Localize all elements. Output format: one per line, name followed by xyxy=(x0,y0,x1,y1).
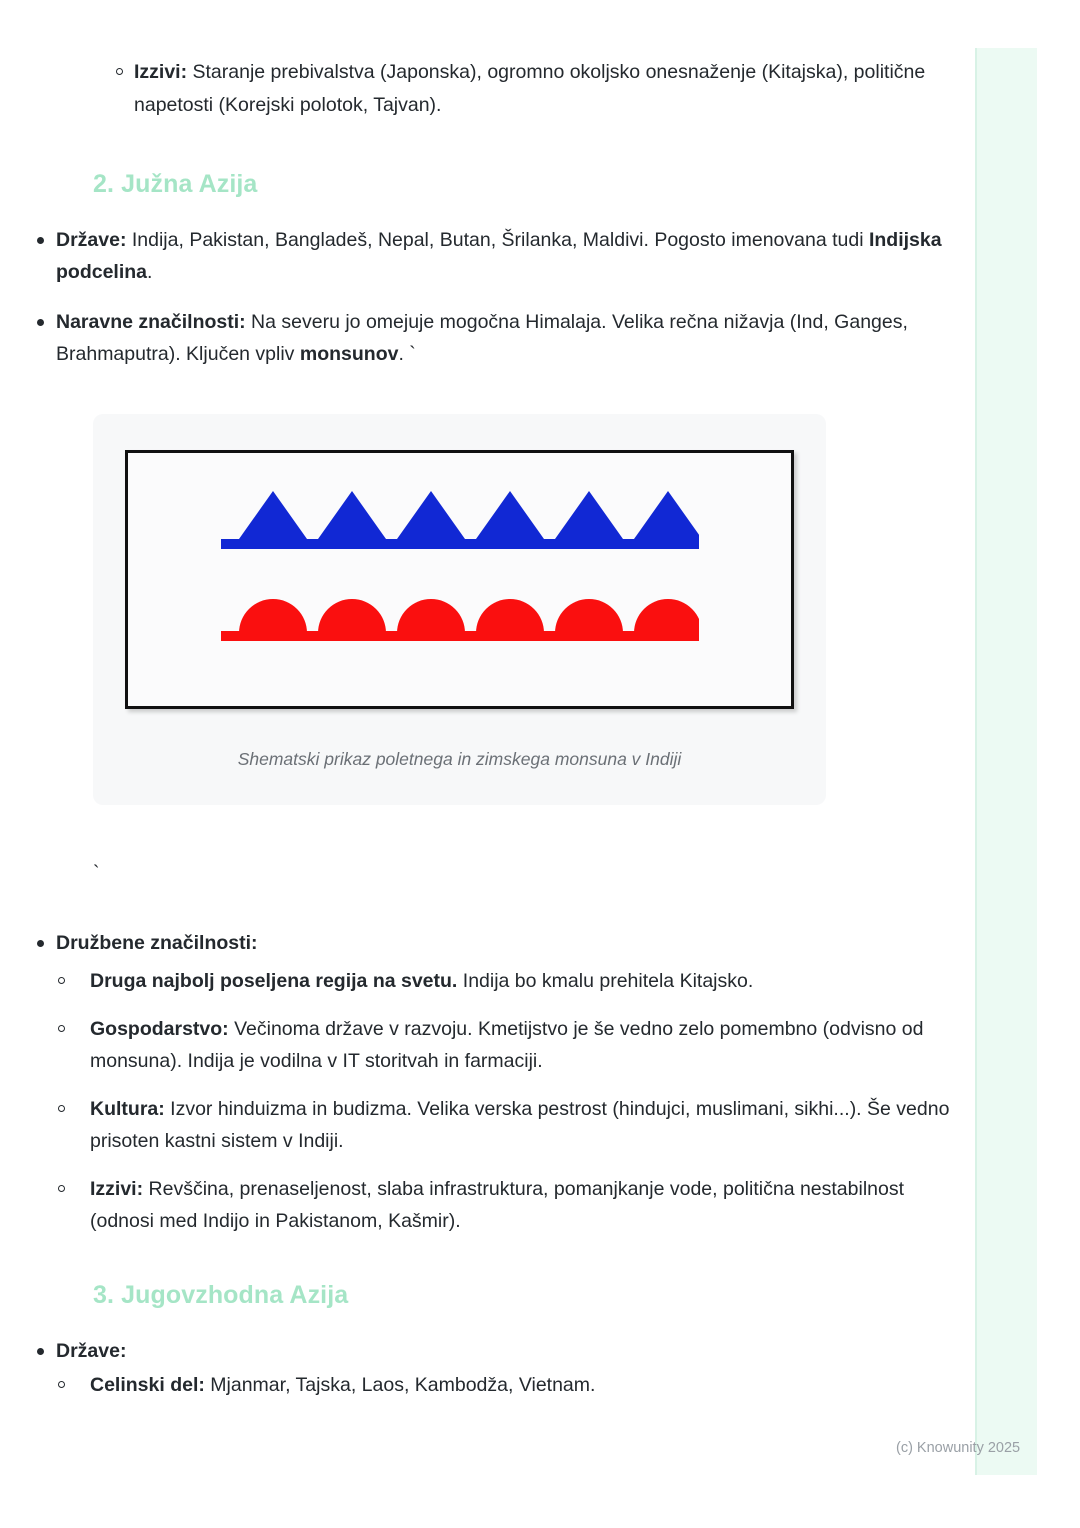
section-heading-south-asia: 2. Južna Azija xyxy=(93,168,960,200)
list-item-kultura: Kultura: Izvor hinduizma in budizma. Vel… xyxy=(56,1093,960,1157)
list-item-label: Izzivi: xyxy=(90,1178,143,1200)
list-item-label: Naravne značilnosti: xyxy=(56,311,246,333)
list-item-label: Druga najbolj poseljena regija na svetu. xyxy=(90,970,457,992)
list-item-label: Celinski del: xyxy=(90,1374,205,1396)
section-heading-southeast-asia: 3. Jugovzhodna Azija xyxy=(93,1279,960,1311)
list-item-text: Indija, Pakistan, Bangladeš, Nepal, Buta… xyxy=(126,229,869,251)
list-item-tail: . ` xyxy=(398,343,415,365)
social-characteristics-sublist: Druga najbolj poseljena regija na svetu.… xyxy=(56,965,960,1237)
list-item-label: Družbene značilnosti: xyxy=(56,932,258,954)
list-item-text: Izvor hinduizma in budizma. Velika versk… xyxy=(90,1098,949,1152)
cold-front-symbol-icon xyxy=(221,487,699,549)
carryover-sublist: Izzivi: Staranje prebivalstva (Japonska)… xyxy=(0,56,960,122)
list-item-label: Kultura: xyxy=(90,1098,165,1120)
list-item-izzivi-east-asia: Izzivi: Staranje prebivalstva (Japonska)… xyxy=(134,56,960,122)
document-page: Izzivi: Staranje prebivalstva (Japonska)… xyxy=(0,0,960,1417)
list-item-tail: . xyxy=(147,261,152,283)
list-item-label: Gospodarstvo: xyxy=(90,1018,229,1040)
list-item-poseljenost: Druga najbolj poseljena regija na svetu.… xyxy=(56,965,960,997)
stray-backtick-line: ` xyxy=(0,857,960,889)
list-item-druzbene-znacilnosti: Družbene značilnosti: Druga najbolj pose… xyxy=(0,927,960,1237)
list-item-drzave-southeast-asia: Države: Celinski del: Mjanmar, Tajska, L… xyxy=(0,1335,960,1401)
list-item-drzave-south-asia: Države: Indija, Pakistan, Bangladeš, Nep… xyxy=(0,224,960,288)
list-item-label: Izzivi: xyxy=(134,61,187,83)
list-item-izzivi-south-asia: Izzivi: Revščina, prenaseljenost, slaba … xyxy=(56,1173,960,1237)
figure-card-monsoon: Shematski prikaz poletnega in zimskega m… xyxy=(93,414,826,805)
list-item-label: Države: xyxy=(56,1340,126,1362)
list-item-text: Staranje prebivalstva (Japonska), ogromn… xyxy=(134,61,925,116)
list-item-text: Indija bo kmalu prehitela Kitajsko. xyxy=(457,970,753,992)
cold-front-row xyxy=(128,487,791,549)
page-accent-strip xyxy=(975,48,1037,1475)
list-item-text: Mjanmar, Tajska, Laos, Kambodža, Vietnam… xyxy=(205,1374,596,1396)
figure-caption: Shematski prikaz poletnega in zimskega m… xyxy=(93,747,826,771)
list-item-gospodarstvo: Gospodarstvo: Večinoma države v razvoju.… xyxy=(56,1013,960,1077)
southeast-asia-bullet-list: Države: Celinski del: Mjanmar, Tajska, L… xyxy=(0,1335,960,1401)
south-asia-bullet-list: Države: Indija, Pakistan, Bangladeš, Nep… xyxy=(0,224,960,370)
list-item-celinski-del: Celinski del: Mjanmar, Tajska, Laos, Kam… xyxy=(56,1369,960,1401)
list-item-naravne-znacilnosti: Naravne značilnosti: Na severu jo omejuj… xyxy=(0,306,960,370)
list-item-text: Revščina, prenaseljenost, slaba infrastr… xyxy=(90,1178,904,1232)
list-item-label: Države: xyxy=(56,229,126,251)
warm-front-row xyxy=(128,593,791,641)
southeast-asia-sublist: Celinski del: Mjanmar, Tajska, Laos, Kam… xyxy=(56,1369,960,1401)
warm-front-symbol-icon xyxy=(221,593,699,641)
social-characteristics-list: Družbene značilnosti: Druga najbolj pose… xyxy=(0,927,960,1237)
footer-copyright: (c) Knowunity 2025 xyxy=(896,1438,1020,1458)
figure-image-frame xyxy=(125,450,794,709)
list-item-bold-tail: monsunov xyxy=(300,343,399,365)
